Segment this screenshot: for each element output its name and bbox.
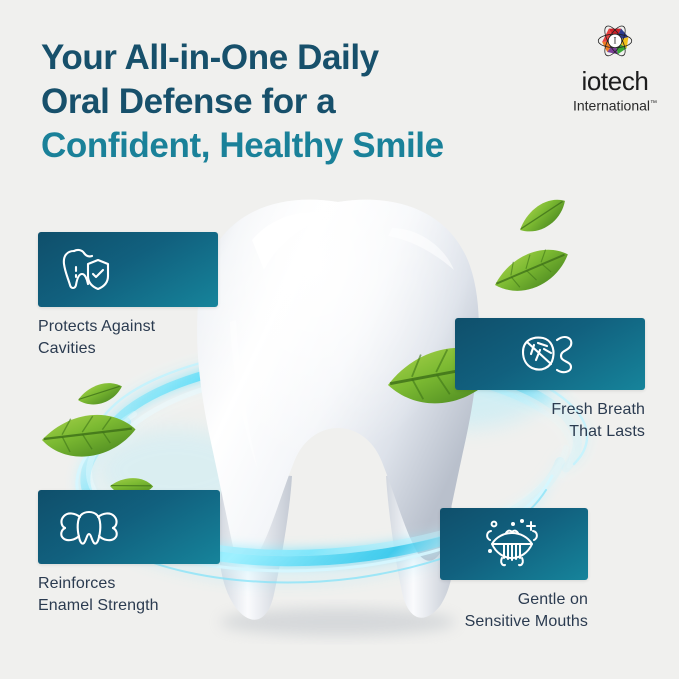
brand-logo: I iotech International™	[563, 18, 667, 115]
feature-gentle-on-sensitive-mouths[interactable]: Gentle on Sensitive Mouths	[440, 508, 588, 633]
headline-line-2: Oral Defense for a	[41, 80, 541, 124]
trademark-symbol: ™	[650, 100, 657, 107]
feature-label: Reinforces Enamel Strength	[38, 573, 220, 617]
feature-reinforces-enamel-strength[interactable]: Reinforces Enamel Strength	[38, 490, 220, 617]
feature-label: Gentle on Sensitive Mouths	[398, 589, 588, 633]
feature-label: Protects Against Cavities	[38, 316, 218, 360]
atom-center-letter: I	[614, 36, 617, 46]
feature-panel	[38, 232, 218, 307]
feature-panel	[38, 490, 220, 564]
feature-label: Fresh Breath That Lasts	[455, 399, 645, 443]
smiling-mouth-sparkle-icon	[482, 518, 542, 570]
feature-panel	[440, 508, 588, 580]
promo-graphic: Your All-in-One Daily Oral Defense for a…	[0, 0, 679, 679]
mint-leaf	[514, 194, 572, 239]
mint-leaf-breath-icon	[517, 330, 579, 378]
logo-wordmark: iotech	[563, 68, 667, 94]
page-title: Your All-in-One Daily Oral Defense for a…	[41, 36, 541, 168]
headline-line-1: Your All-in-One Daily	[41, 36, 541, 80]
feature-panel	[455, 318, 645, 390]
tooth-shield-icon	[60, 245, 114, 295]
atom-icon: I	[587, 18, 643, 66]
logo-subtext: International™	[563, 95, 667, 115]
logo-subtext-text: International	[573, 98, 650, 114]
headline-line-3: Confident, Healthy Smile	[41, 124, 541, 168]
feature-fresh-breath-that-lasts[interactable]: Fresh Breath That Lasts	[455, 318, 645, 443]
mint-leaf	[489, 242, 574, 299]
tooth-muscle-icon	[56, 503, 122, 551]
feature-protects-against-cavities[interactable]: Protects Against Cavities	[38, 232, 218, 360]
